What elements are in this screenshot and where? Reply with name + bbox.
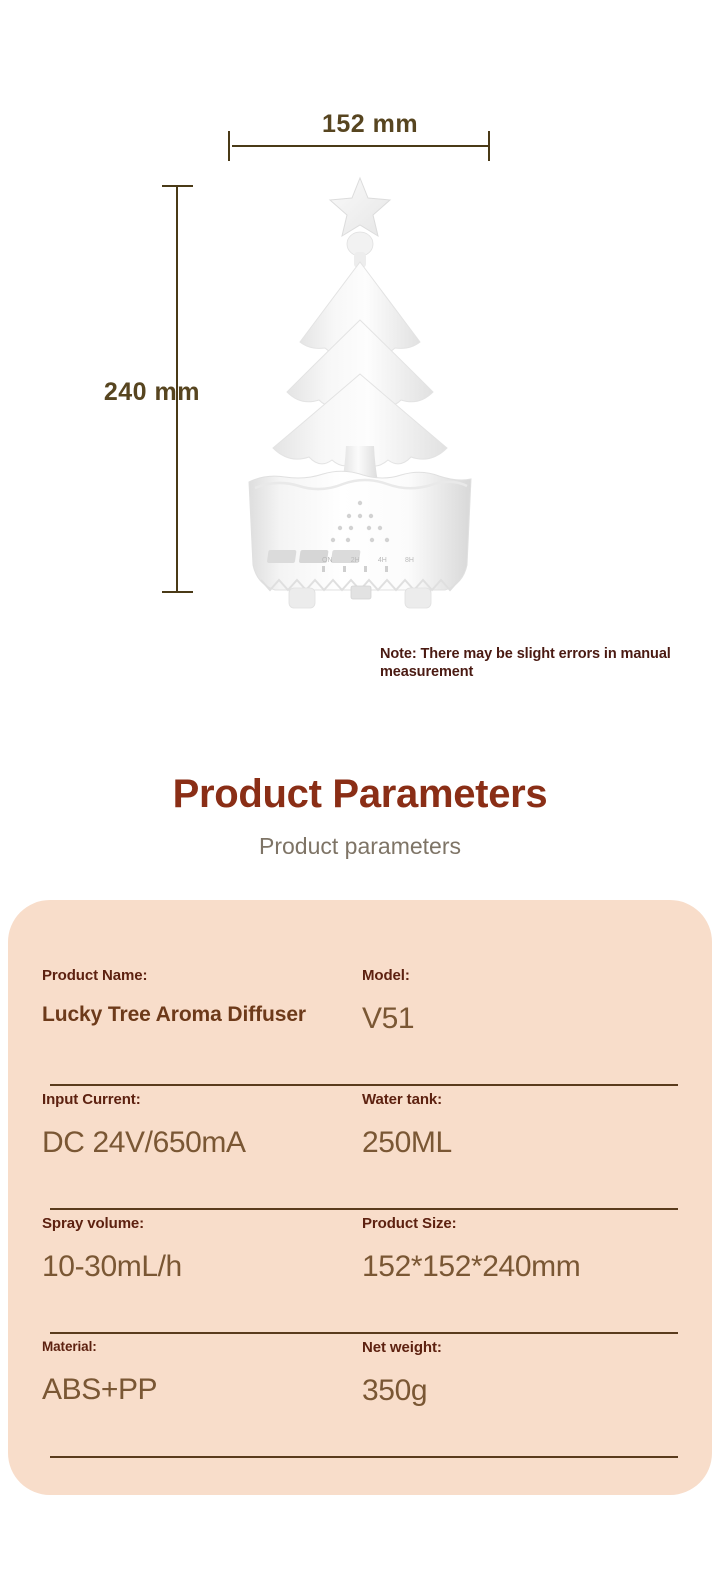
spec-cell-spray-volume: Spray volume: 10-30mL/h bbox=[42, 1216, 360, 1314]
spec-value: 350g bbox=[362, 1376, 668, 1406]
spec-label: Input Current: bbox=[42, 1092, 350, 1107]
spec-table: Product Name: Lucky Tree Aroma Diffuser … bbox=[42, 962, 678, 1458]
spec-cell-model: Model: V51 bbox=[360, 968, 678, 1066]
spec-label: Spray volume: bbox=[42, 1216, 350, 1231]
spec-label: Product Size: bbox=[362, 1216, 668, 1231]
spec-cell-water-tank: Water tank: 250ML bbox=[360, 1092, 678, 1190]
table-row: Input Current: DC 24V/650mA Water tank: … bbox=[42, 1086, 678, 1210]
spec-value: V51 bbox=[362, 1004, 668, 1034]
width-dimension-label: 152 mm bbox=[270, 110, 470, 139]
spec-table-panel: Product Name: Lucky Tree Aroma Diffuser … bbox=[8, 900, 712, 1495]
spec-value: 250ML bbox=[362, 1128, 668, 1158]
product-image-christmas-tree-diffuser bbox=[205, 170, 515, 610]
table-row: Spray volume: 10-30mL/h Product Size: 15… bbox=[42, 1210, 678, 1334]
width-dimension-cap-left bbox=[228, 131, 230, 161]
width-dimension-line bbox=[232, 145, 488, 147]
timer-label-on[interactable]: ON bbox=[322, 557, 333, 564]
timer-label-4h[interactable]: 4H bbox=[378, 557, 387, 564]
section-subtitle: Product parameters bbox=[0, 833, 720, 860]
spec-value: ABS+PP bbox=[42, 1375, 350, 1405]
spec-cell-net-weight: Net weight: 350g bbox=[360, 1340, 678, 1438]
section-title: Product Parameters bbox=[0, 772, 720, 817]
spec-label: Water tank: bbox=[362, 1092, 668, 1107]
measurement-note: Note: There may be slight errors in manu… bbox=[380, 645, 700, 681]
spec-value: 152*152*240mm bbox=[362, 1252, 668, 1282]
spec-label: Material: bbox=[42, 1340, 350, 1354]
height-dimension-cap-bottom bbox=[162, 591, 193, 593]
power-port-icon bbox=[351, 586, 371, 599]
product-spec-page: 152 mm 240 mm bbox=[0, 0, 720, 1569]
width-dimension-cap-right bbox=[488, 131, 490, 161]
spec-value: 10-30mL/h bbox=[42, 1252, 350, 1282]
spec-cell-product-name: Product Name: Lucky Tree Aroma Diffuser bbox=[42, 968, 360, 1066]
dimension-diagram: 152 mm 240 mm bbox=[0, 0, 720, 700]
table-row: Material: ABS+PP Net weight: 350g bbox=[42, 1334, 678, 1458]
spec-cell-product-size: Product Size: 152*152*240mm bbox=[360, 1216, 678, 1314]
spec-cell-input-current: Input Current: DC 24V/650mA bbox=[42, 1092, 360, 1190]
timer-label-2h[interactable]: 2H bbox=[351, 557, 360, 564]
height-dimension-cap-top bbox=[162, 185, 193, 187]
spec-label: Net weight: bbox=[362, 1340, 668, 1355]
spec-value: DC 24V/650mA bbox=[42, 1128, 350, 1158]
table-row: Product Name: Lucky Tree Aroma Diffuser … bbox=[42, 962, 678, 1086]
spec-cell-material: Material: ABS+PP bbox=[42, 1340, 360, 1438]
row-divider bbox=[50, 1456, 678, 1458]
control-panel-timer-labels: ON 2H 4H 8H bbox=[322, 557, 414, 564]
spec-value: Lucky Tree Aroma Diffuser bbox=[42, 1004, 350, 1025]
height-dimension-line bbox=[176, 186, 178, 592]
timer-label-8h[interactable]: 8H bbox=[405, 557, 414, 564]
spec-label: Model: bbox=[362, 968, 668, 983]
diffuser-bowl-base bbox=[249, 471, 471, 590]
diffuser-feet bbox=[289, 586, 431, 608]
spec-label: Product Name: bbox=[42, 968, 350, 983]
star-finial-icon bbox=[330, 178, 390, 268]
